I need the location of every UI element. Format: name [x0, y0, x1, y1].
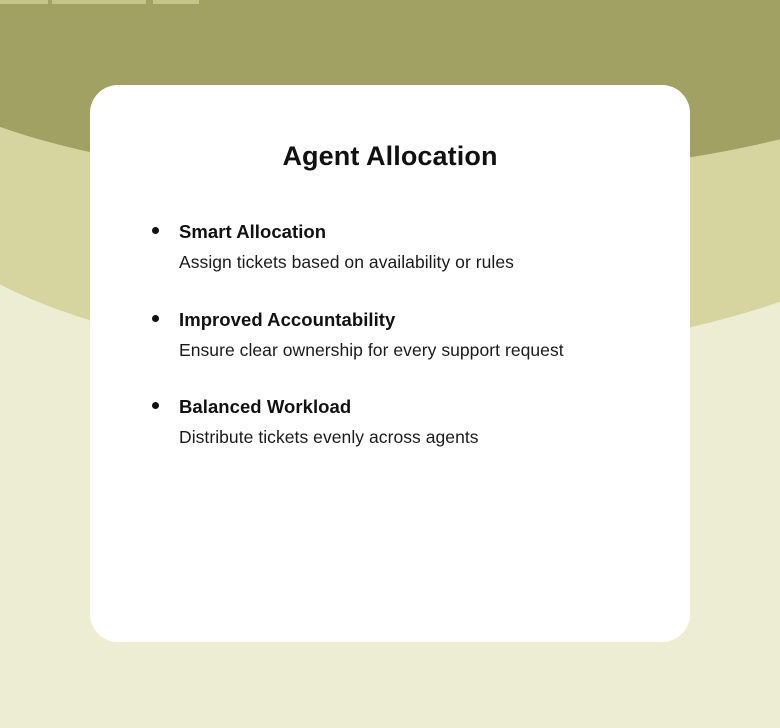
bullet-dot-icon	[152, 227, 159, 234]
page-title: Agent Allocation	[90, 85, 690, 172]
list-item: Improved Accountability Ensure clear own…	[152, 308, 650, 363]
list-item: Balanced Workload Distribute tickets eve…	[152, 395, 650, 450]
list-item-description: Assign tickets based on availability or …	[179, 249, 631, 275]
top-edge-accent-2	[52, 0, 146, 4]
list-item-description: Ensure clear ownership for every support…	[179, 337, 631, 363]
top-edge-accent-1	[0, 0, 48, 4]
bullet-dot-icon	[152, 402, 159, 409]
slide-canvas: Agent Allocation Smart Allocation Assign…	[0, 0, 780, 728]
list-item-heading: Improved Accountability	[179, 308, 650, 333]
list-item: Smart Allocation Assign tickets based on…	[152, 220, 650, 275]
top-edge-accent-3	[153, 0, 199, 4]
list-item-heading: Balanced Workload	[179, 395, 650, 420]
bullet-dot-icon	[152, 315, 159, 322]
content-card: Agent Allocation Smart Allocation Assign…	[90, 85, 690, 642]
feature-bullet-list: Smart Allocation Assign tickets based on…	[90, 172, 690, 450]
list-item-description: Distribute tickets evenly across agents	[179, 424, 631, 450]
list-item-heading: Smart Allocation	[179, 220, 650, 245]
